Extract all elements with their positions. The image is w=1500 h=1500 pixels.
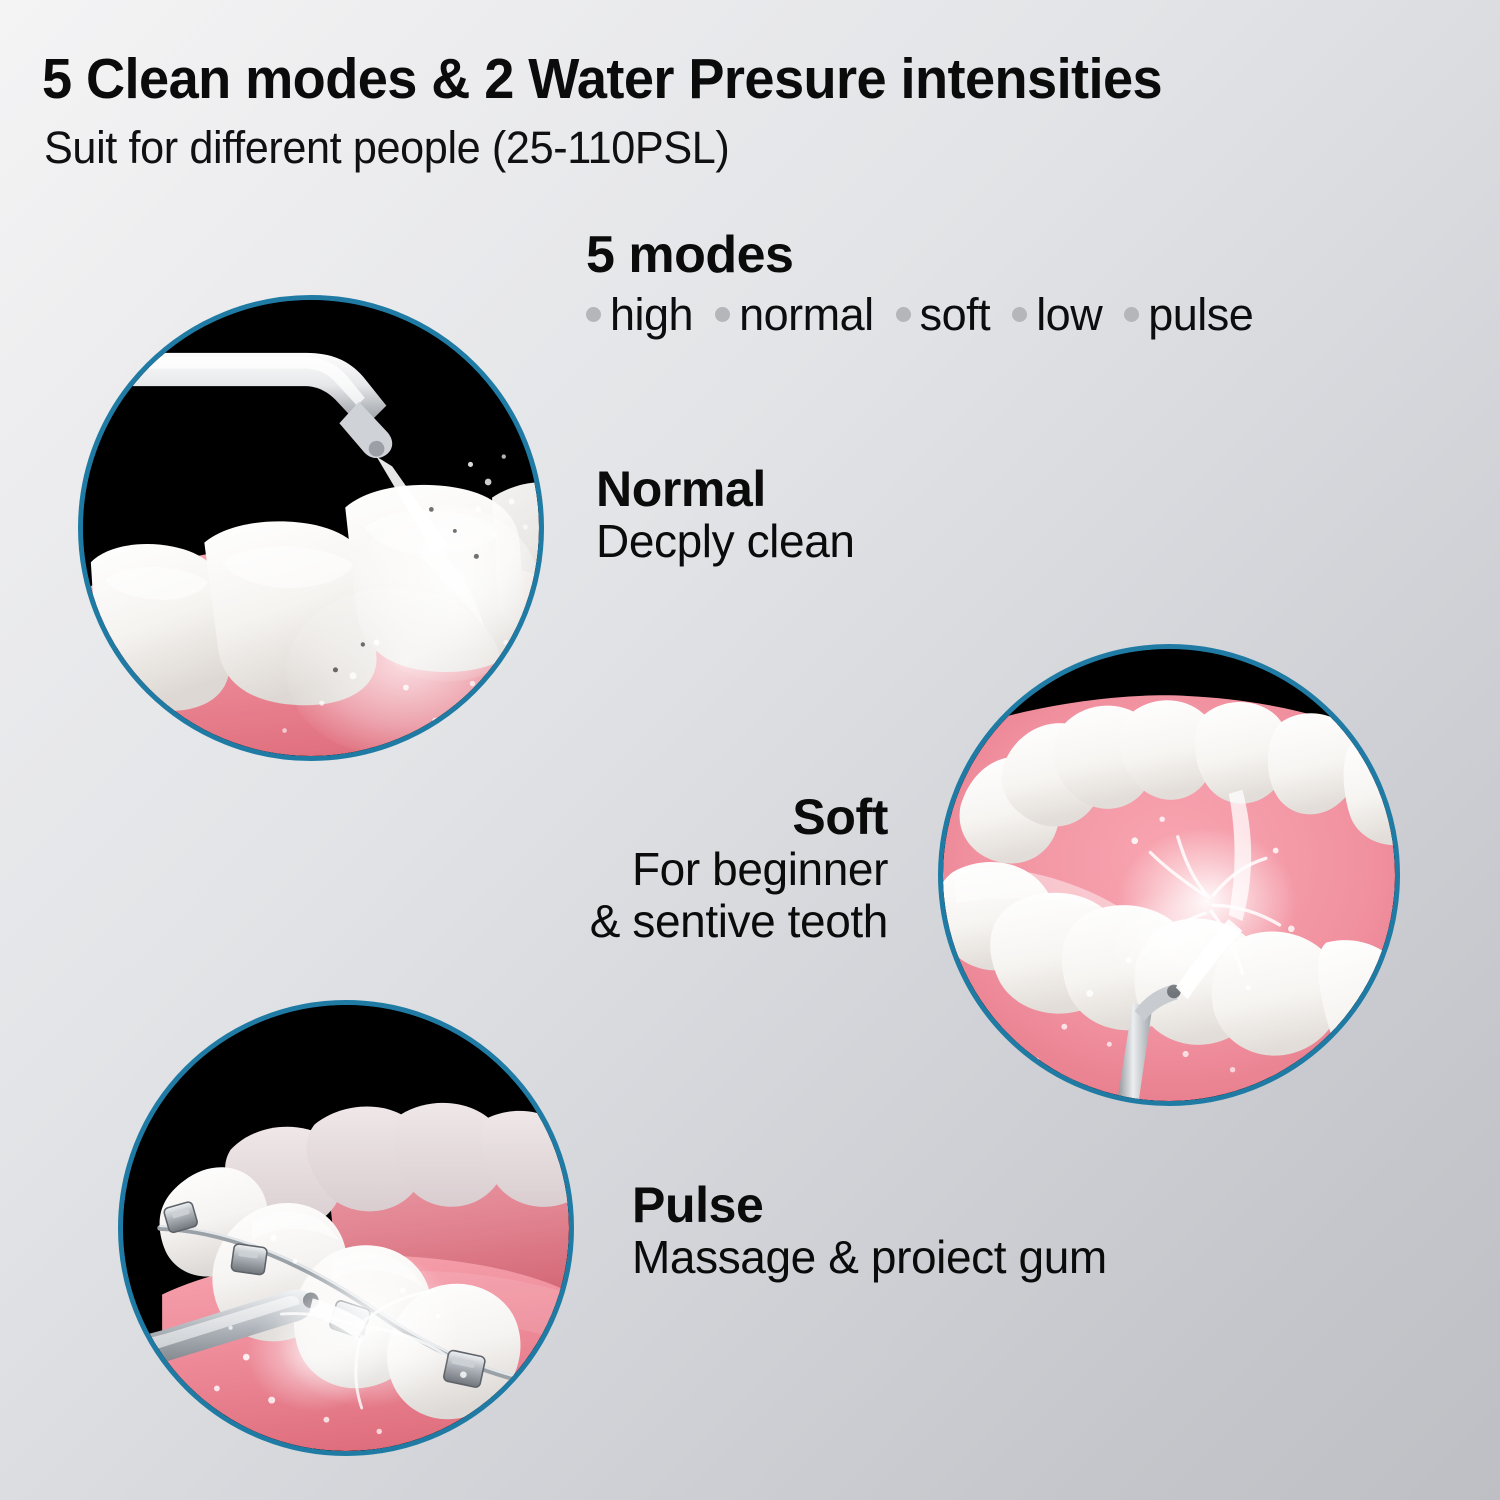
bullet-dot-icon xyxy=(1012,307,1027,322)
mode-label: soft xyxy=(920,289,991,341)
feature-text-pulse: Pulse Massage & proiect gum xyxy=(632,1178,1107,1284)
mode-label: low xyxy=(1036,289,1102,341)
bullet-dot-icon xyxy=(586,307,601,322)
mode-label: pulse xyxy=(1148,289,1253,341)
feature-image-normal xyxy=(78,295,544,761)
feature-image-pulse xyxy=(118,1000,574,1456)
bullet-dot-icon xyxy=(896,307,911,322)
feature-line: Massage & proiect gum xyxy=(632,1232,1107,1284)
feature-image-soft xyxy=(938,644,1400,1106)
mode-item-normal: normal xyxy=(715,289,874,341)
illustration-flosser-open-mouth xyxy=(943,649,1395,1101)
feature-line: Decply clean xyxy=(596,516,855,568)
modes-heading: 5 modes xyxy=(586,228,1253,283)
feature-image-soft-inner xyxy=(943,649,1395,1101)
infographic-canvas: 5 Clean modes & 2 Water Presure intensit… xyxy=(0,0,1500,1500)
feature-title: Pulse xyxy=(632,1178,1107,1232)
feature-image-pulse-inner xyxy=(123,1005,569,1451)
feature-text-soft: Soft For beginner & sentive teoth xyxy=(500,790,888,947)
mode-item-soft: soft xyxy=(896,289,991,341)
feature-title: Soft xyxy=(500,790,888,844)
mode-item-low: low xyxy=(1012,289,1102,341)
page-title: 5 Clean modes & 2 Water Presure intensit… xyxy=(42,46,1162,112)
mode-item-pulse: pulse xyxy=(1124,289,1253,341)
modes-list: high normal soft low pulse xyxy=(586,289,1253,341)
modes-panel: 5 modes high normal soft low pulse xyxy=(586,228,1253,341)
illustration-flosser-on-molars xyxy=(83,300,539,756)
mode-label: normal xyxy=(739,289,874,341)
feature-image-normal-inner xyxy=(83,300,539,756)
feature-title: Normal xyxy=(596,462,855,516)
mode-label: high xyxy=(610,289,693,341)
illustration-flosser-on-braces xyxy=(123,1005,569,1451)
bullet-dot-icon xyxy=(1124,307,1139,322)
page-subtitle: Suit for different people (25-110PSL) xyxy=(44,122,729,174)
feature-text-normal: Normal Decply clean xyxy=(596,462,855,568)
feature-line: & sentive teoth xyxy=(500,896,888,948)
mode-item-high: high xyxy=(586,289,693,341)
bullet-dot-icon xyxy=(715,307,730,322)
feature-line: For beginner xyxy=(500,844,888,896)
